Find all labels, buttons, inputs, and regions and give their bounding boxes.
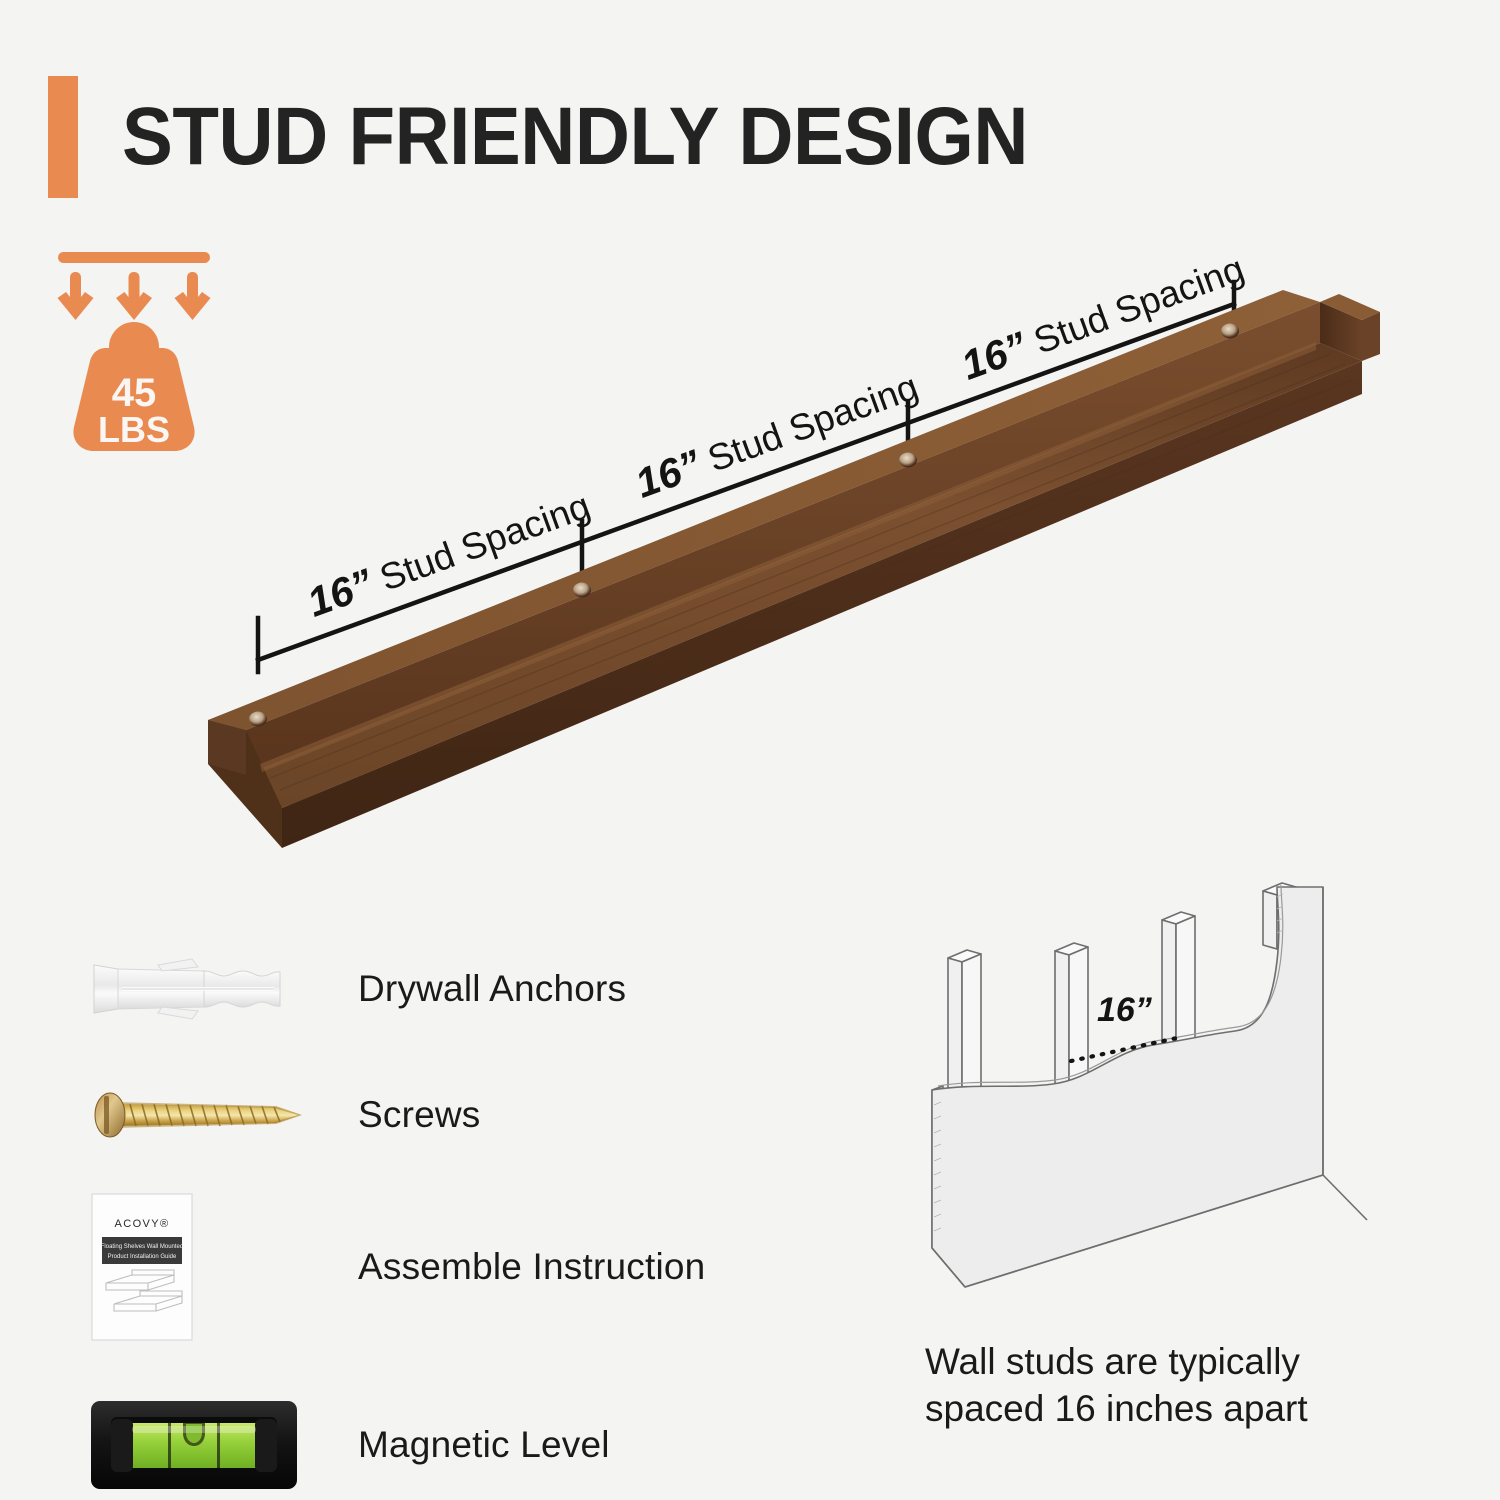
accessory-label: Magnetic Level [358, 1424, 610, 1466]
drywall-anchor-icon [88, 930, 358, 1048]
mounting-hole [249, 712, 267, 727]
infographic-canvas: STUD FRIENDLY DESIGN 45 [0, 0, 1500, 1500]
caption-line-2: spaced 16 inches apart [925, 1385, 1425, 1432]
wall-stud [948, 950, 981, 1097]
list-item: Magnetic Level [88, 1360, 848, 1500]
stud-caption: Wall studs are typically spaced 16 inche… [925, 1338, 1425, 1433]
screw-icon [88, 1056, 358, 1174]
shelf-illustration: 16” Stud Spacing 16” Stud Spacing 16” St… [130, 230, 1470, 860]
list-item: Screws [88, 1056, 848, 1174]
page-title: STUD FRIENDLY DESIGN [122, 96, 1028, 178]
list-item: ACOVY® Floating Shelves Wall Mounted Pro… [88, 1182, 848, 1352]
mounting-hole [1221, 324, 1239, 339]
wall-studs-cutaway-icon: 16” [905, 875, 1405, 1315]
manual-subtitle-2: Product Installation Guide [108, 1254, 177, 1260]
stud-spacing-value: 16” [1097, 991, 1152, 1029]
accent-bar [48, 76, 78, 198]
accessory-label: Drywall Anchors [358, 968, 626, 1010]
accessory-list: Drywall Anchors [88, 930, 848, 1500]
list-item: Drywall Anchors [88, 930, 848, 1048]
magnetic-level-icon [88, 1360, 358, 1500]
manual-subtitle-1: Floating Shelves Wall Mounted [101, 1244, 184, 1250]
caption-line-1: Wall studs are typically [925, 1338, 1425, 1385]
mounting-hole [573, 583, 591, 598]
accessory-label: Screws [358, 1094, 481, 1136]
mounting-hole [899, 453, 917, 468]
instruction-manual-icon: ACOVY® Floating Shelves Wall Mounted Pro… [88, 1182, 358, 1352]
manual-brand: ACOVY® [114, 1218, 169, 1230]
header: STUD FRIENDLY DESIGN [48, 72, 1248, 202]
accessory-label: Assemble Instruction [358, 1246, 705, 1288]
wall-stud [1055, 943, 1088, 1093]
